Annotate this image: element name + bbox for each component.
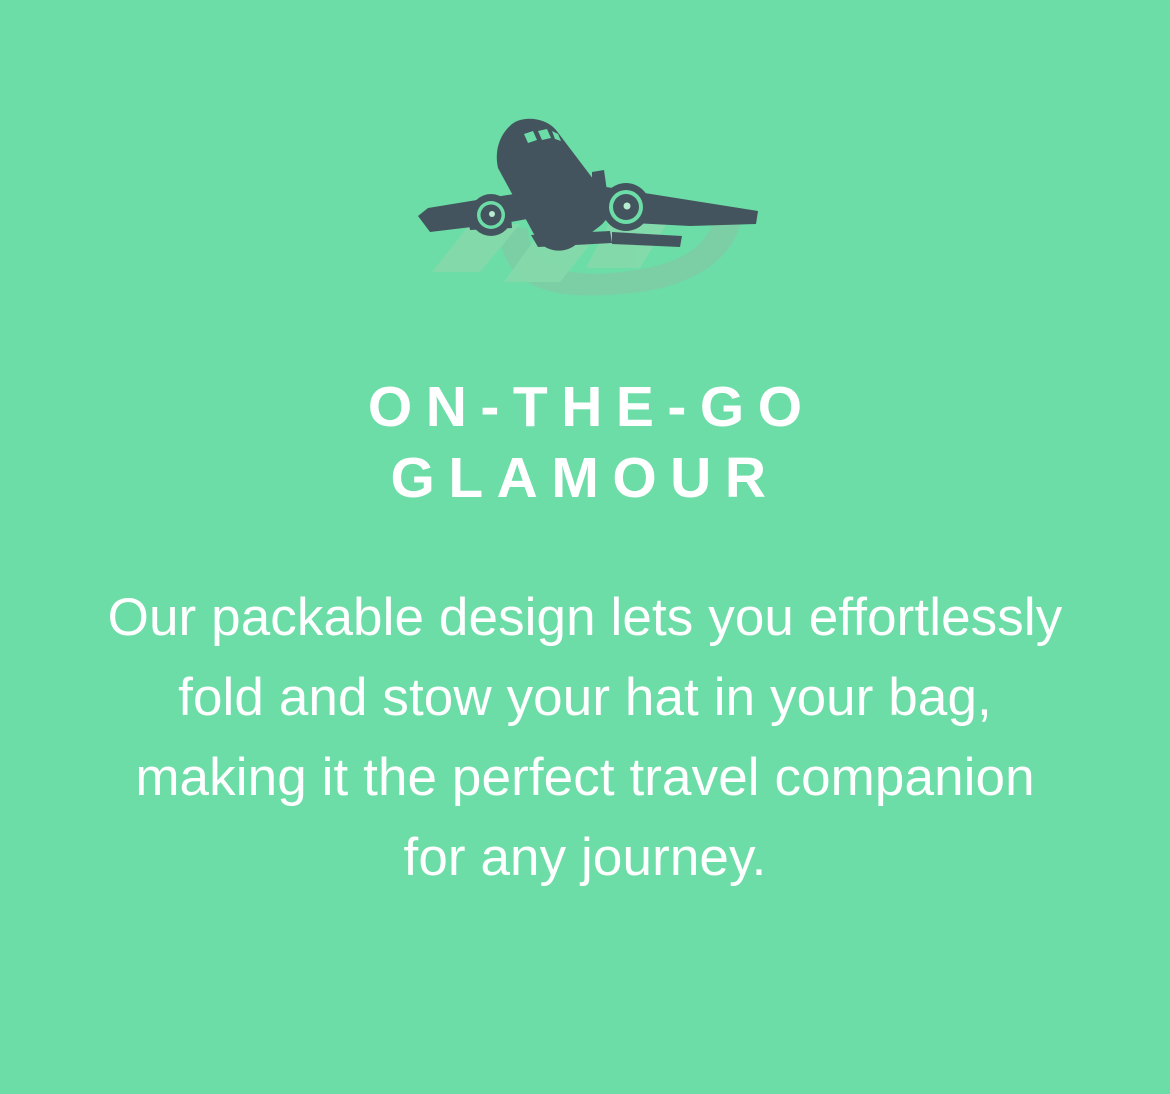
body-copy: Our packable design lets you effortlessl… [0, 578, 1170, 898]
engine-far-icon [470, 194, 512, 236]
cockpit-windows-icon [524, 129, 561, 143]
page-title: ON-THE-GO GLAMOUR [0, 372, 1170, 514]
airplane-shadow-icon [432, 222, 668, 282]
promo-panel: ON-THE-GO GLAMOUR Our packable design le… [0, 0, 1170, 1094]
airplane-body-icon [418, 119, 758, 251]
contrail-arc-icon [500, 212, 742, 296]
airplane-illustration [0, 0, 1170, 330]
engine-near-icon [602, 183, 650, 231]
